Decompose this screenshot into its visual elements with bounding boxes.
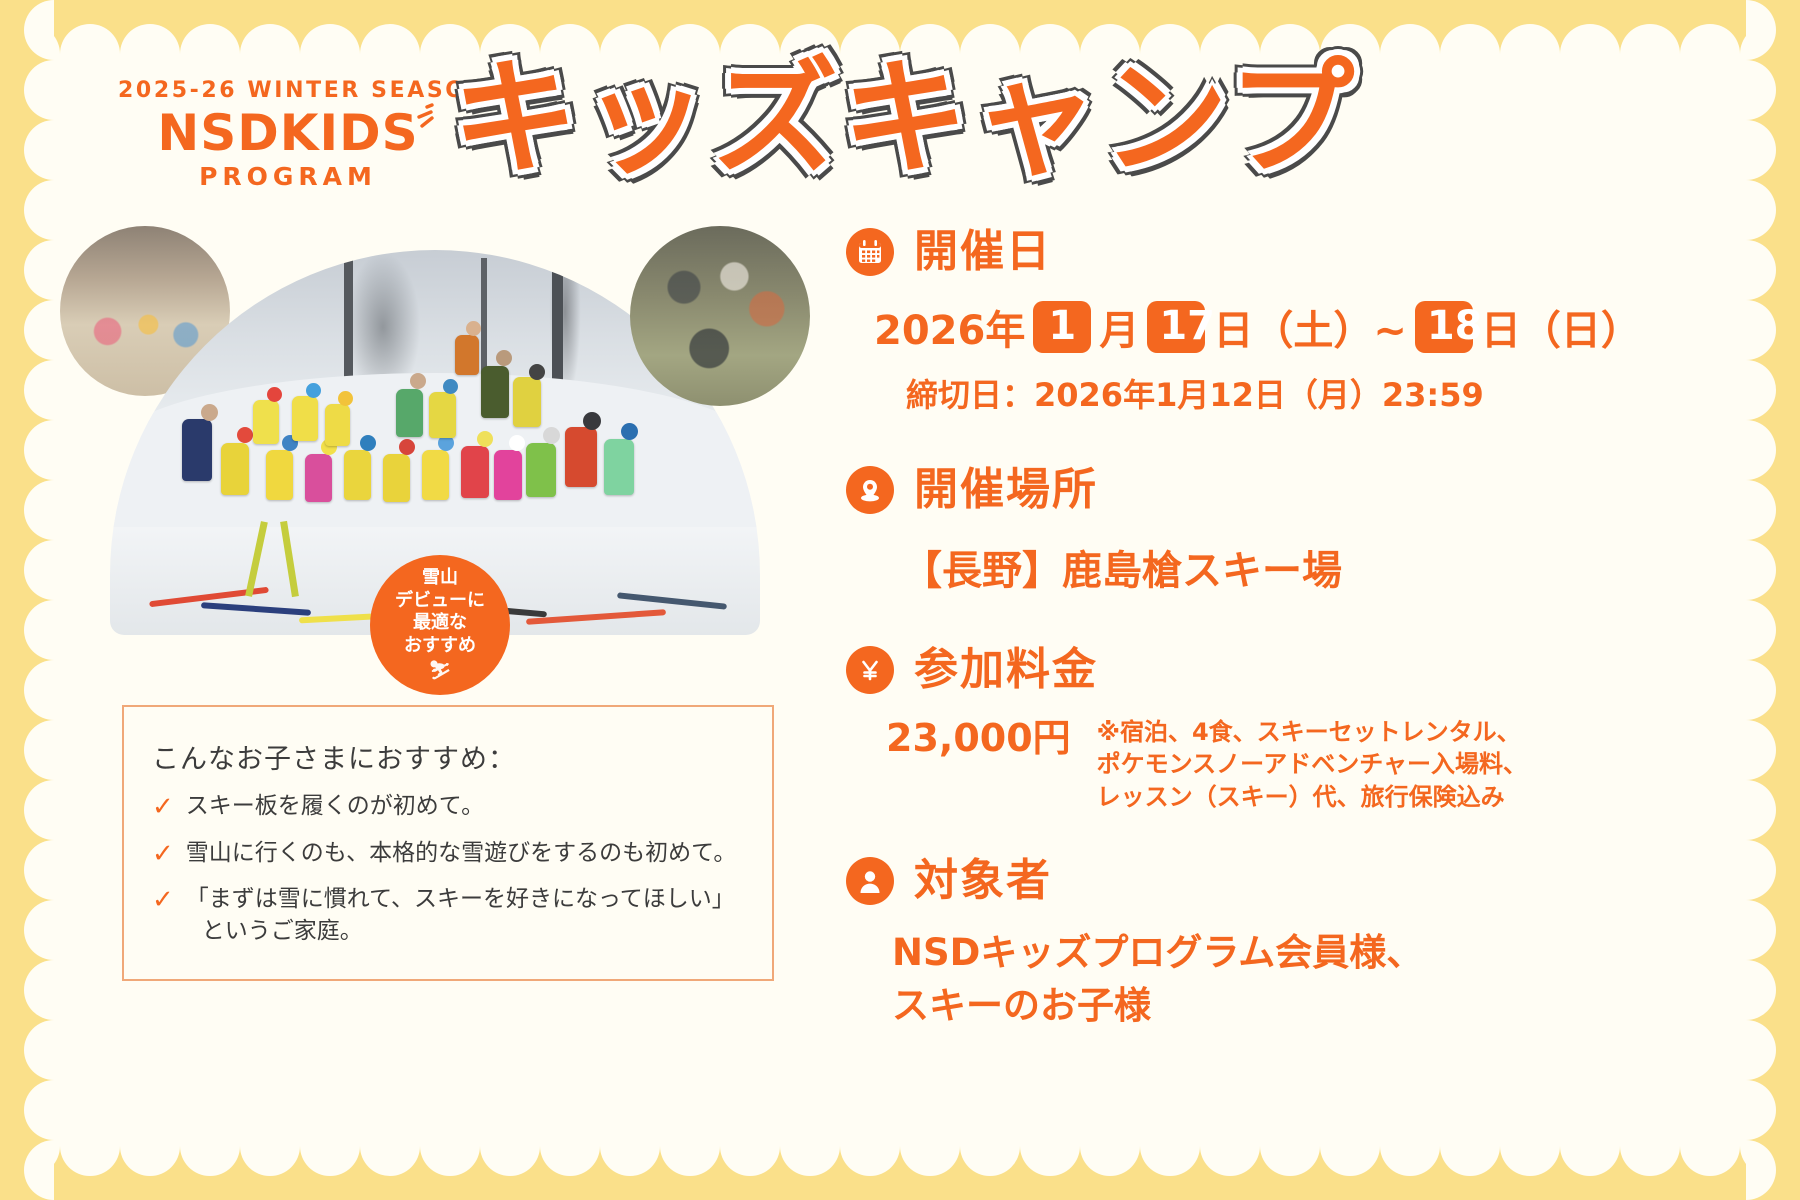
logo-program-text: PROGRAM — [118, 162, 458, 191]
recommendation-box: こんなお子さまにおすすめ： ✓ スキー板を履くのが初めて。 ✓ 雪山に行くのも、… — [122, 705, 774, 981]
event-end-day-unit: 日（日） — [1481, 298, 1641, 356]
page-title: キッズキャンプ — [452, 44, 1382, 194]
event-start-day-chip: 17 — [1147, 301, 1205, 352]
info-block-fee: 参加料金 23,000円 ※宿泊、4食、スキーセットレンタル、 ポケモンスノーア… — [846, 646, 1546, 813]
info-head-date: 開催日 — [846, 228, 1546, 276]
price-row: 23,000円 ※宿泊、4食、スキーセットレンタル、 ポケモンスノーアドベンチャ… — [886, 716, 1546, 813]
application-deadline: 締切日：2026年1月12日（月）23:59 — [906, 370, 1546, 416]
price-note: ※宿泊、4食、スキーセットレンタル、 ポケモンスノーアドベンチャー入場料、 レッ… — [1097, 716, 1527, 813]
yen-icon — [846, 646, 894, 694]
event-date-line: 2026年 1 月 17 日（土）~ 18 日（日） — [874, 298, 1546, 356]
recommendation-heading: こんなお子さまにおすすめ： — [152, 737, 516, 776]
calendar-icon — [846, 228, 894, 276]
photo-group-outdoor-thumbnail — [630, 226, 810, 406]
sparkle-icon — [415, 101, 443, 135]
price-note-line-3: レッスン（スキー）代、旅行保険込み — [1097, 783, 1505, 811]
target-line-2: スキーのお子様 — [892, 980, 1546, 1033]
badge-line-2: デビューに — [395, 590, 485, 613]
info-block-target: 対象者 NSDキッズプログラム会員様、 スキーのお子様 — [846, 857, 1546, 1032]
event-month-unit: 月 — [1099, 298, 1139, 356]
price-note-line-2: ポケモンスノーアドベンチャー入場料、 — [1097, 750, 1527, 778]
info-head-fee: 参加料金 — [846, 646, 1546, 694]
list-item: ✓ スキー板を履くのが初めて。 — [152, 791, 748, 824]
list-item: ✓ 雪山に行くのも、本格的な雪遊びをするのも初めて。 — [152, 838, 748, 871]
scallop-border-right — [1746, 0, 1800, 1200]
info-block-place: 開催場所 【長野】鹿島槍スキー場 — [846, 466, 1546, 596]
scallop-border-left — [0, 0, 54, 1200]
logo-brand-label: NSDKIDS — [157, 104, 418, 162]
target-audience: NSDキッズプログラム会員様、 スキーのお子様 — [892, 927, 1546, 1032]
info-head-place: 開催場所 — [846, 466, 1546, 514]
check-icon: ✓ — [152, 838, 174, 871]
list-item-text: 雪山に行くのも、本格的な雪遊びをするのも初めて。 — [186, 838, 737, 871]
target-line-1: NSDキッズプログラム会員様、 — [892, 927, 1546, 980]
logo-brand-text: NSDKIDS — [157, 107, 418, 160]
scallop-border-bottom — [0, 1146, 1800, 1200]
event-end-day-chip: 18 — [1415, 301, 1473, 352]
person-icon — [846, 857, 894, 905]
price-note-line-1: ※宿泊、4食、スキーセットレンタル、 — [1097, 718, 1521, 746]
list-item-text: スキー板を履くのが初めて。 — [186, 791, 484, 824]
info-block-date: 開催日 2026年 1 月 17 日（土）~ 18 日（日） 締切日：2026年… — [846, 228, 1546, 416]
list-item: ✓ 「まずは雪に慣れて、スキーを好きになってほしい」 というご家庭。 — [152, 884, 748, 947]
event-month-chip: 1 — [1033, 301, 1091, 352]
info-label-place: 開催場所 — [914, 468, 1098, 512]
event-start-day-unit: 日（土）~ — [1213, 298, 1407, 356]
nsdkids-logo: 2025-26 WINTER SEASON NSDKIDS PROGRAM — [118, 78, 458, 191]
check-icon: ✓ — [152, 791, 174, 824]
info-head-target: 対象者 — [846, 857, 1546, 905]
price-amount: 23,000円 — [886, 716, 1071, 762]
info-column: 開催日 2026年 1 月 17 日（土）~ 18 日（日） 締切日：2026年… — [846, 228, 1546, 1042]
badge-line-4: おすすめ — [404, 635, 476, 658]
page-title-text: キッズキャンプ — [452, 56, 1358, 182]
event-year: 2026年 — [874, 298, 1025, 356]
list-item-text-main: 「まずは雪に慣れて、スキーを好きになってほしい」 — [186, 886, 735, 912]
highlight-badge: 雪山 デビューに 最適な おすすめ ⛷ — [370, 555, 510, 695]
list-item-text-sub: というご家庭。 — [202, 916, 735, 948]
recommendation-list: ✓ スキー板を履くのが初めて。 ✓ 雪山に行くのも、本格的な雪遊びをするのも初め… — [152, 791, 748, 961]
list-item-text: 「まずは雪に慣れて、スキーを好きになってほしい」 というご家庭。 — [186, 884, 735, 947]
info-label-fee: 参加料金 — [914, 648, 1098, 692]
poster-root: 2025-26 WINTER SEASON NSDKIDS PROGRAM キッ… — [0, 0, 1800, 1200]
location-pin-icon — [846, 466, 894, 514]
logo-season-text: 2025-26 WINTER SEASON — [118, 78, 458, 103]
venue-name: 【長野】鹿島槍スキー場 — [902, 538, 1546, 596]
skier-icon: ⛷ — [429, 660, 452, 683]
info-label-target: 対象者 — [914, 859, 1052, 903]
info-label-date: 開催日 — [914, 230, 1052, 274]
check-icon: ✓ — [152, 884, 174, 947]
badge-line-1: 雪山 — [422, 567, 458, 590]
badge-line-3: 最適な — [413, 612, 467, 635]
